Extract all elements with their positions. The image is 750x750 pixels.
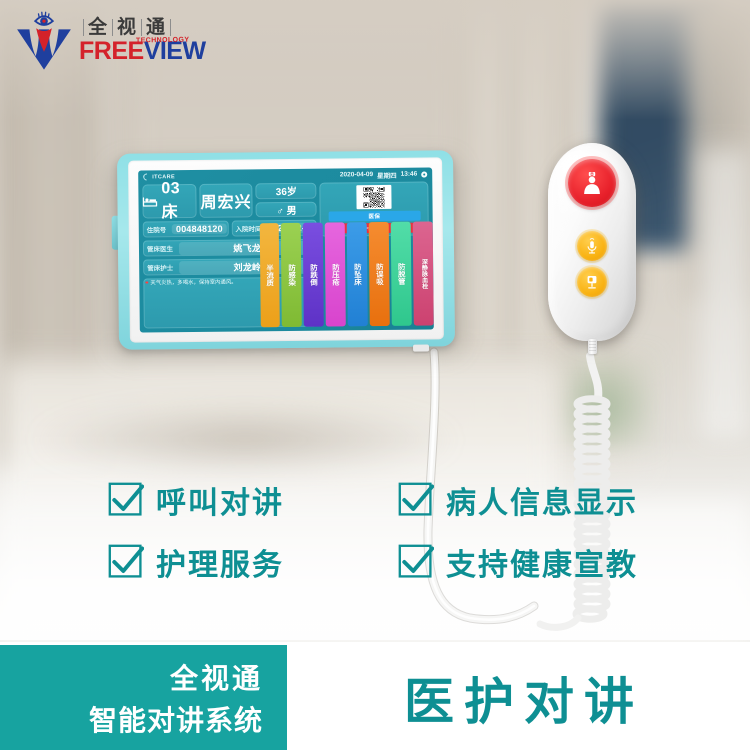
logo-cn-2: 视 bbox=[117, 18, 137, 38]
w-mark-icon bbox=[16, 27, 72, 72]
brand-name: ITCARE bbox=[152, 174, 175, 180]
logo-free: FREE bbox=[79, 37, 144, 65]
patient-gender: ♂ 男 bbox=[256, 201, 317, 217]
logo-chinese: 全 视 通 bbox=[79, 18, 206, 38]
banner-title: 医护对讲 bbox=[404, 662, 644, 734]
care-tag[interactable]: 防脱管 bbox=[391, 222, 412, 326]
patient-name-card[interactable]: 周宏兴 bbox=[199, 183, 253, 218]
patient-age: 36岁 bbox=[256, 183, 317, 199]
feature-item: 呼叫对讲 bbox=[108, 478, 398, 522]
care-tag[interactable]: 半流质 bbox=[259, 223, 280, 327]
care-tag[interactable]: 防误吸 bbox=[369, 222, 390, 326]
microphone-button[interactable] bbox=[577, 231, 607, 261]
feature-item: 病人信息显示 bbox=[398, 478, 708, 522]
tablet-port bbox=[413, 345, 429, 352]
tablet-screen[interactable]: ITCARE 2020-04-09 星期四 13:46 bbox=[138, 167, 434, 332]
feature-label: 病人信息显示 bbox=[446, 478, 638, 522]
tablet-bezel: ITCARE 2020-04-09 星期四 13:46 bbox=[117, 150, 455, 350]
feature-label: 支持健康宣教 bbox=[446, 540, 638, 584]
logo-text: 全 视 通 FREEVIEW TECHNOLOGY bbox=[79, 18, 206, 65]
checkbox-checked-icon bbox=[398, 544, 434, 580]
patient-name: 周宏兴 bbox=[200, 188, 251, 213]
field-admission-no: 住院号 004848120 bbox=[143, 221, 229, 238]
gear-icon[interactable] bbox=[421, 171, 427, 177]
field-label: 管床护士 bbox=[143, 262, 177, 272]
field-label: 管床医生 bbox=[143, 243, 177, 253]
status-right: 2020-04-09 星期四 13:46 bbox=[340, 169, 427, 180]
care-tags-strip: 半流质 防感染 防跌倒 防压疮 防坠床 防误吸 防脱管 深静脉血栓 bbox=[259, 221, 434, 327]
bg-window bbox=[700, 150, 750, 440]
status-weekday: 星期四 bbox=[377, 169, 397, 179]
care-tag[interactable]: 防感染 bbox=[281, 223, 302, 327]
banner-brand-line: 全视通 bbox=[170, 657, 263, 697]
brand-arc-icon bbox=[142, 172, 152, 182]
status-time: 13:46 bbox=[401, 171, 418, 178]
brand-logo: 全 视 通 FREEVIEW TECHNOLOGY bbox=[16, 10, 206, 72]
feature-list: 呼叫对讲 病人信息显示 护理服务 支持健康宣教 bbox=[108, 478, 708, 584]
tablet-inner-frame: ITCARE 2020-04-09 星期四 13:46 bbox=[128, 157, 444, 342]
banner-right-block: 医护对讲 bbox=[292, 645, 750, 750]
logo-cn-3: 通 bbox=[146, 18, 166, 38]
feature-item: 护理服务 bbox=[108, 540, 398, 584]
care-tag[interactable]: 防压疮 bbox=[325, 222, 346, 326]
banner-system-line: 智能对讲系统 bbox=[89, 699, 263, 739]
nurse-call-button[interactable] bbox=[568, 159, 616, 207]
feature-item: 支持健康宣教 bbox=[398, 540, 708, 584]
care-tag[interactable]: 防坠床 bbox=[347, 222, 368, 326]
status-date: 2020-04-09 bbox=[340, 171, 373, 178]
nurse-icon bbox=[581, 171, 603, 195]
feature-label: 呼叫对讲 bbox=[156, 478, 284, 522]
care-tag[interactable]: 深静脉血栓 bbox=[413, 221, 434, 325]
bed-number-label: 03床 bbox=[161, 180, 196, 222]
logo-english: FREEVIEW TECHNOLOGY bbox=[79, 39, 206, 64]
qr-code-icon[interactable] bbox=[357, 185, 392, 209]
bed-number-card[interactable]: 03床 bbox=[142, 184, 196, 219]
bed-icon bbox=[142, 196, 157, 207]
logo-mark bbox=[16, 10, 72, 72]
checkbox-checked-icon bbox=[108, 482, 144, 518]
microphone-icon bbox=[584, 238, 600, 254]
handset-body bbox=[548, 143, 636, 341]
care-tag[interactable]: 防跌倒 bbox=[303, 223, 324, 327]
badge-insurance: 医保 bbox=[328, 211, 420, 222]
handset-strain-relief bbox=[588, 339, 597, 354]
age-gender-column: 36岁 ♂ 男 bbox=[256, 183, 317, 218]
checkbox-checked-icon bbox=[398, 482, 434, 518]
speaker-icon bbox=[584, 274, 600, 290]
logo-cn-1: 全 bbox=[88, 18, 108, 38]
bottom-banner: 全视通 智能对讲系统 医护对讲 bbox=[0, 642, 750, 750]
speaker-button[interactable] bbox=[577, 267, 607, 297]
field-value: 004848120 bbox=[172, 224, 227, 235]
nurse-call-handset[interactable] bbox=[548, 143, 636, 341]
patient-header-row: 03床 周宏兴 36岁 ♂ 男 bbox=[142, 183, 317, 219]
checkbox-checked-icon bbox=[108, 544, 144, 580]
feature-label: 护理服务 bbox=[156, 540, 284, 584]
bg-plant bbox=[560, 355, 655, 450]
notice-dot-icon bbox=[145, 281, 148, 284]
banner-left-block: 全视通 智能对讲系统 bbox=[0, 645, 287, 750]
background-photo bbox=[0, 0, 750, 750]
field-label: 住院号 bbox=[143, 224, 171, 234]
bedside-tablet[interactable]: ITCARE 2020-04-09 星期四 13:46 bbox=[117, 150, 455, 350]
